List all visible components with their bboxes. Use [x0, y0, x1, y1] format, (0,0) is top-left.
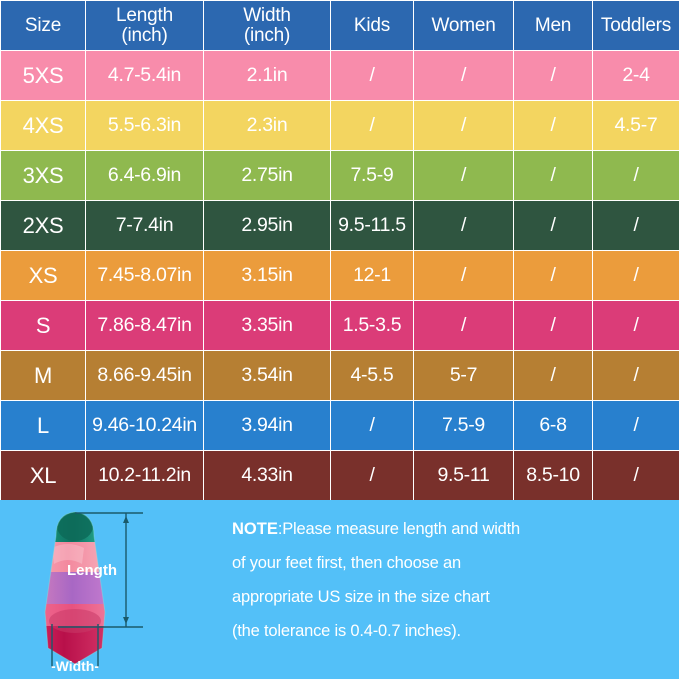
cell-men: / — [514, 251, 593, 301]
column-header-kids-label: Kids — [354, 15, 390, 36]
table-row: XL 10.2-11.2in 4.33in / 9.5-11 8.5-10 / — [1, 451, 679, 501]
cell-size: L — [1, 401, 86, 451]
cell-size: XL — [1, 451, 86, 501]
cell-kids: 4-5.5 — [331, 351, 414, 401]
cell-men: / — [514, 301, 593, 351]
cell-men: / — [514, 151, 593, 201]
table-row: 5XS 4.7-5.4in 2.1in / / / 2-4 — [1, 51, 679, 101]
cell-women: 5-7 — [414, 351, 514, 401]
cell-women: 7.5-9 — [414, 401, 514, 451]
cell-women: / — [414, 251, 514, 301]
cell-length: 8.66-9.45in — [86, 351, 204, 401]
fin-toe-opening — [57, 511, 93, 541]
cell-width: 3.94in — [204, 401, 331, 451]
cell-width: 2.3in — [204, 101, 331, 151]
note-line-1: NOTE:Please measure length and width — [232, 512, 662, 546]
note-line-3: appropriate US size in the size chart — [232, 580, 662, 614]
column-header-kids: Kids — [331, 1, 414, 51]
cell-men: / — [514, 101, 593, 151]
table-row: 4XS 5.5-6.3in 2.3in / / / 4.5-7 — [1, 101, 679, 151]
note-line-4: (the tolerance is 0.4-0.7 inches). — [232, 614, 662, 648]
cell-kids: 9.5-11.5 — [331, 201, 414, 251]
cell-kids: 12-1 — [331, 251, 414, 301]
cell-width: 2.95in — [204, 201, 331, 251]
table-row: S 7.86-8.47in 3.35in 1.5-3.5 / / / — [1, 301, 679, 351]
column-header-length-label: Length — [116, 5, 173, 26]
cell-size: M — [1, 351, 86, 401]
cell-toddlers: / — [593, 351, 679, 401]
table-header: Size Length (inch) Width (inch) Kids Wom… — [1, 1, 679, 51]
note-line-1-text: Please measure length and width — [282, 520, 520, 538]
cell-kids: / — [331, 451, 414, 501]
cell-length: 7.45-8.07in — [86, 251, 204, 301]
cell-size: S — [1, 301, 86, 351]
width-label: -Width- — [51, 658, 99, 674]
note-label: NOTE — [232, 520, 278, 538]
cell-toddlers: 4.5-7 — [593, 101, 679, 151]
column-header-women-label: Women — [431, 15, 495, 36]
cell-kids: 7.5-9 — [331, 151, 414, 201]
table-row: XS 7.45-8.07in 3.15in 12-1 / / / — [1, 251, 679, 301]
cell-women: / — [414, 301, 514, 351]
cell-width: 3.54in — [204, 351, 331, 401]
cell-toddlers: / — [593, 301, 679, 351]
column-header-width-label: Width — [243, 5, 291, 26]
column-header-length: Length (inch) — [86, 1, 204, 51]
swim-fin-icon: Length -Width- — [18, 508, 223, 678]
cell-women: / — [414, 101, 514, 151]
column-header-men-label: Men — [535, 15, 571, 36]
cell-toddlers: / — [593, 201, 679, 251]
cell-kids: / — [331, 401, 414, 451]
cell-length: 7.86-8.47in — [86, 301, 204, 351]
note-panel: Length -Width- NOTE:Please measure lengt… — [0, 500, 679, 679]
cell-men: / — [514, 351, 593, 401]
fin-heel-opening — [49, 609, 101, 633]
cell-size: XS — [1, 251, 86, 301]
cell-length: 5.5-6.3in — [86, 101, 204, 151]
cell-men: 8.5-10 — [514, 451, 593, 501]
length-arrow-up-icon — [123, 516, 129, 523]
column-header-toddlers-label: Toddlers — [601, 15, 671, 36]
note-line-2: of your feet first, then choose an — [232, 546, 662, 580]
cell-size: 2XS — [1, 201, 86, 251]
cell-men: / — [514, 51, 593, 101]
cell-length: 4.7-5.4in — [86, 51, 204, 101]
length-arrow-down-icon — [123, 617, 129, 624]
note-text-block: NOTE:Please measure length and width of … — [232, 512, 662, 648]
cell-width: 2.75in — [204, 151, 331, 201]
table-row: 2XS 7-7.4in 2.95in 9.5-11.5 / / / — [1, 201, 679, 251]
cell-width: 3.35in — [204, 301, 331, 351]
column-header-width: Width (inch) — [204, 1, 331, 51]
cell-size: 4XS — [1, 101, 86, 151]
cell-width: 4.33in — [204, 451, 331, 501]
column-header-size-label: Size — [25, 15, 61, 36]
column-header-women: Women — [414, 1, 514, 51]
cell-women: / — [414, 151, 514, 201]
cell-kids: 1.5-3.5 — [331, 301, 414, 351]
cell-women: / — [414, 51, 514, 101]
cell-toddlers: / — [593, 401, 679, 451]
length-label: Length — [67, 562, 117, 579]
table-row: 3XS 6.4-6.9in 2.75in 7.5-9 / / / — [1, 151, 679, 201]
column-header-length-unit: (inch) — [86, 26, 203, 45]
cell-kids: / — [331, 51, 414, 101]
cell-length: 7-7.4in — [86, 201, 204, 251]
cell-toddlers: / — [593, 151, 679, 201]
cell-men: 6-8 — [514, 401, 593, 451]
size-chart-page: Size Length (inch) Width (inch) Kids Wom… — [0, 0, 679, 679]
column-header-width-unit: (inch) — [204, 26, 330, 45]
cell-length: 9.46-10.24in — [86, 401, 204, 451]
size-chart-table: Size Length (inch) Width (inch) Kids Wom… — [0, 0, 679, 501]
column-header-toddlers: Toddlers — [593, 1, 679, 51]
cell-toddlers: / — [593, 251, 679, 301]
column-header-size: Size — [1, 1, 86, 51]
swim-fin-illustration: Length -Width- — [18, 508, 223, 678]
cell-women: 9.5-11 — [414, 451, 514, 501]
cell-size: 3XS — [1, 151, 86, 201]
cell-toddlers: / — [593, 451, 679, 501]
cell-width: 3.15in — [204, 251, 331, 301]
table-body: 5XS 4.7-5.4in 2.1in / / / 2-4 4XS 5.5-6.… — [1, 51, 679, 501]
cell-women: / — [414, 201, 514, 251]
cell-width: 2.1in — [204, 51, 331, 101]
cell-men: / — [514, 201, 593, 251]
table-header-row: Size Length (inch) Width (inch) Kids Wom… — [1, 1, 679, 51]
table-row: M 8.66-9.45in 3.54in 4-5.5 5-7 / / — [1, 351, 679, 401]
column-header-men: Men — [514, 1, 593, 51]
cell-size: 5XS — [1, 51, 86, 101]
cell-length: 10.2-11.2in — [86, 451, 204, 501]
cell-length: 6.4-6.9in — [86, 151, 204, 201]
cell-kids: / — [331, 101, 414, 151]
cell-toddlers: 2-4 — [593, 51, 679, 101]
table-row: L 9.46-10.24in 3.94in / 7.5-9 6-8 / — [1, 401, 679, 451]
